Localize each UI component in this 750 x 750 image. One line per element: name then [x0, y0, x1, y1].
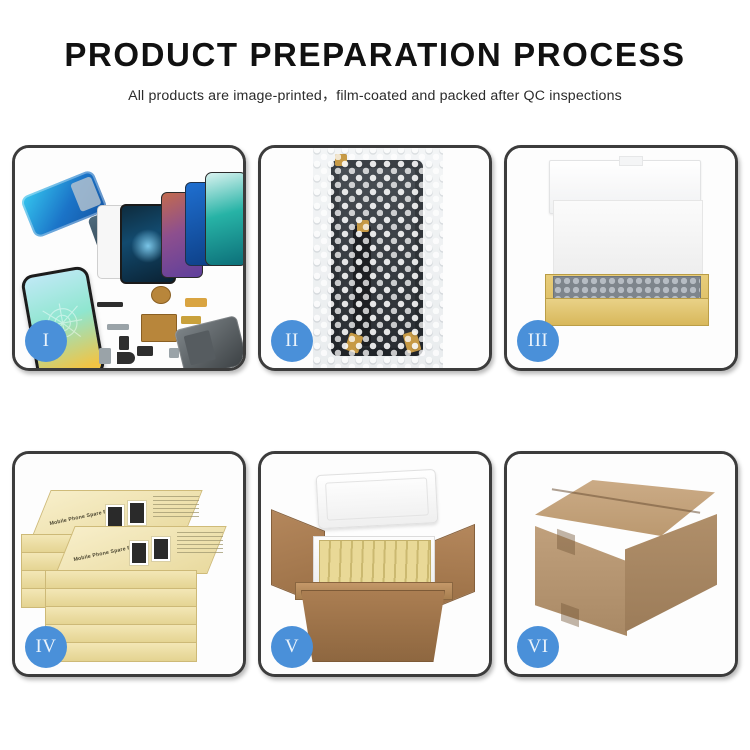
flex-cable-part-icon — [97, 302, 123, 307]
box-feature-list-front — [177, 532, 223, 556]
step-badge-1: I — [25, 320, 67, 362]
step-badge-5: V — [271, 626, 313, 668]
process-step-2: II Single screen assembly sealed in bubb… — [258, 145, 492, 371]
bubble-bag — [313, 148, 443, 368]
box-layer-f2 — [45, 588, 197, 608]
sim-tray-part-icon — [99, 348, 111, 364]
connector-part-icon — [185, 298, 207, 307]
foam-sheet-icon — [553, 200, 703, 280]
step-badge-4: IV — [25, 626, 67, 668]
box-layer-f4 — [45, 624, 197, 644]
box-layer-f1 — [45, 570, 197, 590]
bubble-wrap-texture — [313, 148, 443, 368]
button-part-icon — [119, 336, 129, 350]
step-badge-2: II — [271, 320, 313, 362]
box-layer-f3 — [45, 606, 197, 626]
phone-display-teal-icon — [205, 172, 243, 266]
box-product-image-2 — [127, 500, 147, 526]
speaker-part-icon — [151, 286, 171, 304]
process-step-4: Mobile Phone Spare Parts Mobile Phone Sp… — [12, 451, 246, 677]
step-badge-6: VI — [517, 626, 559, 668]
box-front-icon — [545, 298, 709, 326]
box-layer-f5 — [45, 642, 197, 662]
process-step-3: III Yellow kraft box with white foam she… — [504, 145, 738, 371]
page-subtitle: All products are image-printed，film-coat… — [0, 85, 750, 105]
page-title: PRODUCT PREPARATION PROCESS — [0, 38, 750, 71]
carton-body-icon — [301, 590, 445, 662]
process-step-1: I Mobile phone LCD screens, display asse… — [12, 145, 246, 371]
contact-part-icon — [181, 316, 201, 324]
vibrator-part-icon — [137, 346, 153, 356]
screw-part-icon — [169, 348, 179, 358]
box-product-image-3 — [129, 540, 149, 566]
box-feature-list-back — [153, 496, 199, 520]
product-preparation-infographic: PRODUCT PREPARATION PROCESS All products… — [0, 0, 750, 750]
process-step-grid: I Mobile phone LCD screens, display asse… — [12, 145, 738, 677]
header: PRODUCT PREPARATION PROCESS All products… — [0, 0, 750, 105]
step-badge-3: III — [517, 320, 559, 362]
camera-part-icon — [117, 352, 135, 364]
carton-left-face — [535, 526, 627, 636]
process-step-5: V Cardboard carton lined with styrofoam … — [258, 451, 492, 677]
circuit-board-part-icon — [141, 314, 177, 342]
styrofoam-lid-icon — [316, 469, 439, 529]
box-product-image-4 — [151, 536, 171, 562]
process-step-6: VI Sealed brown corrugated shipping cart… — [504, 451, 738, 677]
spare-parts-group — [93, 286, 243, 368]
bracket-part-icon — [107, 324, 129, 330]
